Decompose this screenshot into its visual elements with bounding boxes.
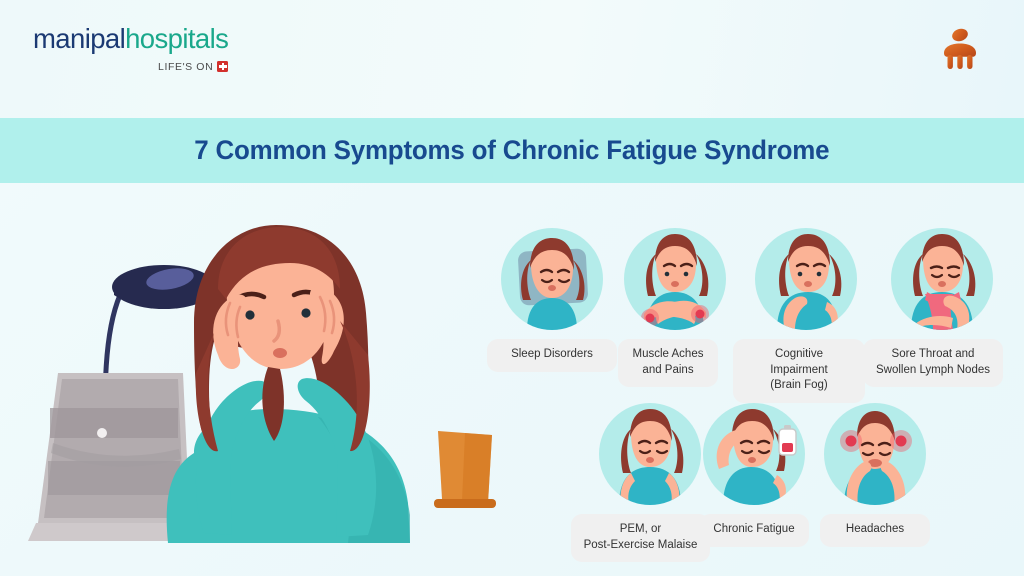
symptom-label: Sore Throat and Swollen Lymph Nodes	[863, 339, 1003, 387]
symptom-label: Muscle Aches and Pains	[618, 339, 718, 387]
symptom-grid: Sleep Disorders	[470, 183, 1024, 576]
woman-thinking-hand-on-chin-icon	[755, 228, 857, 330]
logo-tagline: LIFE'S ON	[33, 61, 228, 73]
manipal-hospitals-logo[interactable]: manipalhospitals LIFE'S ON	[33, 25, 228, 73]
main-content: Sleep Disorders	[0, 183, 1024, 576]
page-header: manipalhospitals LIFE'S ON	[0, 0, 1024, 118]
symptom-label: Chronic Fatigue	[699, 514, 809, 547]
symptom-label: PEM, or Post-Exercise Malaise	[571, 514, 710, 562]
logo-word-hospitals: hospitals	[125, 23, 228, 54]
title-banner: 7 Common Symptoms of Chronic Fatigue Syn…	[0, 118, 1024, 183]
logo-word-manipal: manipal	[33, 23, 125, 54]
woman-low-battery-icon	[703, 403, 805, 505]
woman-holding-throat-scarf-icon	[891, 228, 993, 330]
symptom-card-headaches[interactable]: Headaches	[820, 403, 930, 547]
page-title: 7 Common Symptoms of Chronic Fatigue Syn…	[194, 135, 829, 166]
woman-standing-tired-icon	[599, 403, 701, 505]
logo-wordmark: manipalhospitals	[33, 25, 228, 53]
symptom-card-cognitive-impairment[interactable]: Cognitive Impairment (Brain Fog)	[733, 228, 865, 403]
symptom-card-sleep-disorders[interactable]: Sleep Disorders	[487, 228, 617, 372]
symptom-card-chronic-fatigue[interactable]: Chronic Fatigue	[699, 403, 809, 547]
symptom-label: Cognitive Impairment (Brain Fog)	[733, 339, 865, 403]
infographic-page: manipalhospitals LIFE'S ON	[0, 0, 1024, 576]
woman-hands-on-temples-icon	[824, 403, 926, 505]
symptom-card-sore-throat[interactable]: Sore Throat and Swollen Lymph Nodes	[863, 228, 1003, 387]
woman-crossed-arms-pain-icon	[624, 228, 726, 330]
symptom-label: Headaches	[820, 514, 930, 547]
woman-sleeping-on-pillow-icon	[501, 228, 603, 330]
orange-abstract-mark-icon	[938, 26, 982, 74]
hero-illustration	[18, 203, 518, 568]
symptom-card-muscle-aches[interactable]: Muscle Aches and Pains	[610, 228, 726, 387]
logo-tagline-text: LIFE'S ON	[158, 61, 213, 73]
symptom-label: Sleep Disorders	[487, 339, 617, 372]
medical-cross-icon	[217, 61, 228, 72]
symptom-card-pem[interactable]: PEM, or Post-Exercise Malaise	[571, 403, 710, 562]
